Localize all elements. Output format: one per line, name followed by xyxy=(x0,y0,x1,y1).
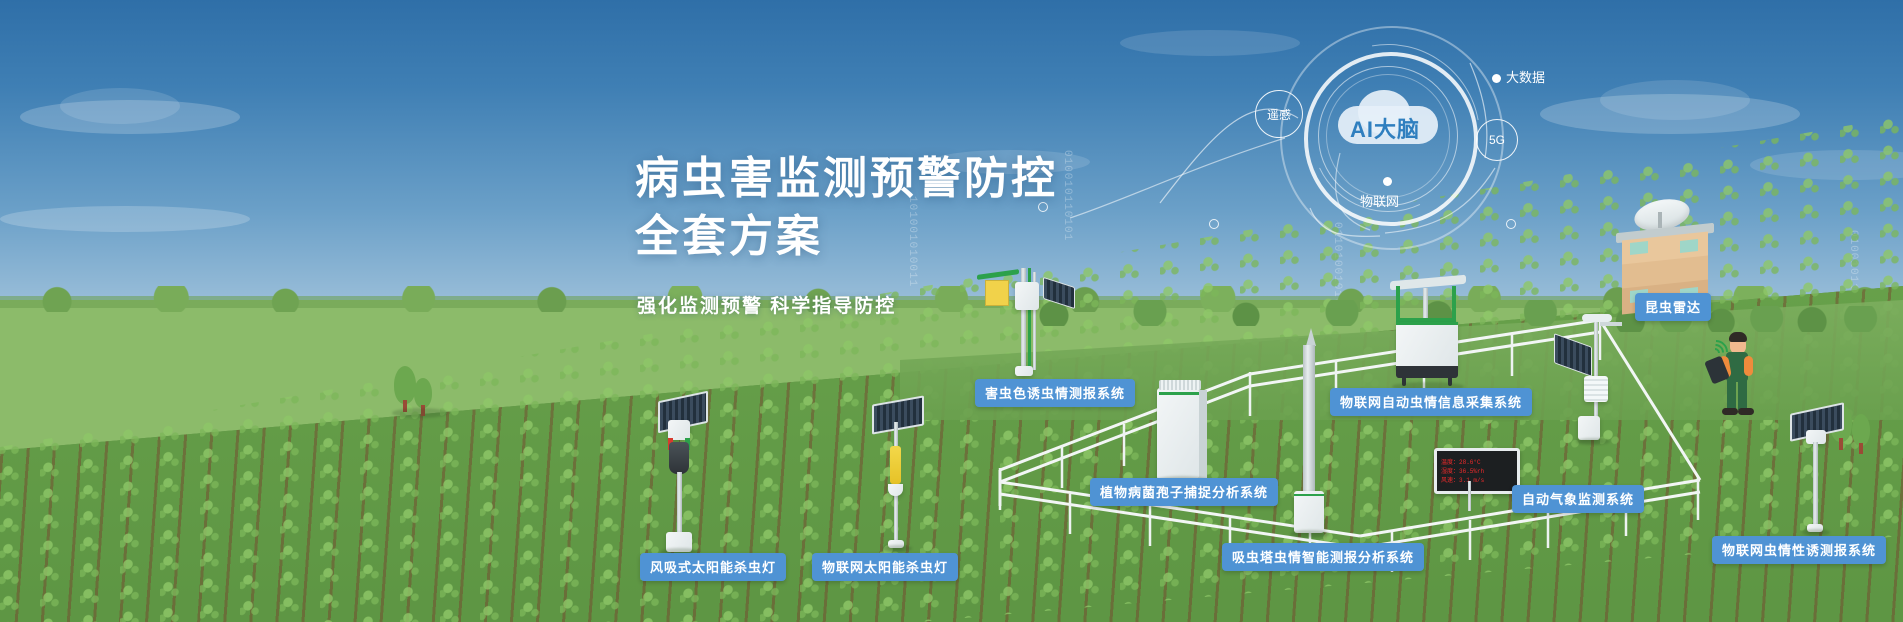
hub-node-label: 遥感 xyxy=(1267,106,1291,123)
building-window xyxy=(1630,241,1648,255)
cabinet-accent-stripe xyxy=(1159,392,1201,395)
title-line-2: 全套方案 xyxy=(635,208,1058,266)
solar-panel xyxy=(1043,277,1075,309)
hub-node-iot-label: 物联网 xyxy=(1360,191,1399,210)
connector-endpoint xyxy=(1506,219,1516,229)
label-spore-capture[interactable]: 植物病菌孢子捕捉分析系统 xyxy=(1090,478,1278,506)
weather-cabinet xyxy=(1578,416,1600,440)
device-pheromone-trap[interactable] xyxy=(1782,408,1862,538)
worker-shoe xyxy=(1722,408,1738,415)
device-shadow xyxy=(1290,530,1330,538)
label-pest-color-trap[interactable]: 害虫色诱虫情测报系统 xyxy=(975,379,1135,407)
led-board-pole xyxy=(1468,481,1471,511)
tower-column xyxy=(1303,345,1315,495)
device-wind-suction-solar-lamp[interactable] xyxy=(642,396,722,556)
yellow-sticky-trap xyxy=(985,280,1009,306)
label-iot-solar-lamp[interactable]: 物联网太阳能杀虫灯 xyxy=(812,553,958,581)
wifi-icon xyxy=(1708,338,1730,354)
label-wind-suction-solar-lamp[interactable]: 风吸式太阳能杀虫灯 xyxy=(640,553,786,581)
device-suction-tower[interactable] xyxy=(1288,328,1332,542)
cloud-shape xyxy=(60,88,180,124)
building-window xyxy=(1680,239,1698,253)
hub-node-label: 5G xyxy=(1489,133,1505,147)
hub-node-iot-dot[interactable] xyxy=(1383,177,1392,186)
page-subtitle: 强化监测预警 科学指导防控 xyxy=(637,291,896,318)
connector-endpoint xyxy=(1209,219,1219,229)
worker-legs xyxy=(1727,380,1736,410)
label-weather-station[interactable]: 自动气象监测系统 xyxy=(1512,485,1644,513)
cloud-shape xyxy=(0,206,250,232)
spore-cabinet xyxy=(1157,388,1199,480)
device-weather-station[interactable] xyxy=(1548,320,1648,456)
radar-feed xyxy=(1658,212,1662,228)
anemometer xyxy=(1582,314,1612,322)
ai-brain-label: AI大脑 xyxy=(1350,112,1420,144)
led-display-board[interactable]: 温度：28.6°C 湿度：36.5%rh 风速：3.1 m/s xyxy=(1434,448,1520,494)
page-title: 病虫害监测预警防控 全套方案 xyxy=(635,150,1058,266)
collector-accent xyxy=(1396,322,1458,325)
device-iot-solar-lamp[interactable] xyxy=(862,400,942,556)
solar-panel xyxy=(1554,333,1592,377)
hub-node-remote-sensing[interactable]: 遥感 xyxy=(1255,90,1303,138)
tower-accent xyxy=(1294,494,1324,496)
device-pest-color-trap[interactable] xyxy=(985,268,1105,378)
device-iot-pest-collector[interactable] xyxy=(1390,278,1480,388)
hub-node-5g[interactable]: 5G xyxy=(1476,119,1518,161)
hub-connector-lines xyxy=(1040,18,1660,318)
collector-body xyxy=(1396,322,1458,370)
tower-base-cabinet xyxy=(1294,491,1324,533)
label-iot-pest-collector[interactable]: 物联网自动虫情信息采集系统 xyxy=(1330,388,1532,416)
control-cabinet xyxy=(1015,282,1039,310)
label-pheromone-trap[interactable]: 物联网虫情性诱测报系统 xyxy=(1712,536,1886,564)
illustration-canvas: 010010110101 101001010011 0100101101001 … xyxy=(0,0,1903,622)
lamp-head xyxy=(668,420,690,440)
device-shadow xyxy=(882,545,912,552)
trap-canopy xyxy=(977,269,1019,280)
ai-brain-hub: AI大脑 遥感 大数据 5G 物联网 xyxy=(1290,38,1560,248)
device-shadow xyxy=(1802,529,1830,536)
mast-base xyxy=(1015,366,1033,376)
worker-arm xyxy=(1744,356,1753,376)
hub-node-big-data-dot[interactable] xyxy=(1492,74,1501,83)
lamp-pole xyxy=(677,472,682,536)
collector-lamp xyxy=(1423,288,1428,318)
label-insect-radar[interactable]: 昆虫雷达 xyxy=(1635,293,1711,321)
lamp-tube xyxy=(890,446,901,484)
cabinet-vent xyxy=(1159,380,1201,390)
trap-pole xyxy=(1813,442,1818,530)
worker-legs xyxy=(1738,380,1747,410)
hub-node-big-data-label: 大数据 xyxy=(1506,67,1545,86)
device-shadow xyxy=(1576,438,1610,445)
worker-shoe xyxy=(1738,408,1754,415)
title-line-1: 病虫害监测预警防控 xyxy=(635,150,1058,208)
field-worker xyxy=(1708,330,1764,422)
led-line: 风速：3.1 m/s xyxy=(1441,477,1513,484)
solar-panel xyxy=(872,395,924,434)
cabinet-side xyxy=(1199,390,1207,478)
collector-frame xyxy=(1452,286,1456,320)
device-spore-capture[interactable] xyxy=(1155,380,1215,490)
sensor-shield xyxy=(1584,376,1608,402)
collection-cup xyxy=(888,484,903,496)
label-suction-tower[interactable]: 吸虫塔虫情智能测报分析系统 xyxy=(1222,543,1424,571)
tree-shadow xyxy=(392,408,448,418)
suction-fan-housing xyxy=(669,442,689,474)
tower-tip xyxy=(1306,328,1316,346)
worker-hair xyxy=(1729,332,1747,342)
led-line: 温度：28.6°C xyxy=(1441,459,1513,466)
collector-frame xyxy=(1396,286,1400,320)
led-line: 湿度：36.5%rh xyxy=(1441,468,1513,475)
